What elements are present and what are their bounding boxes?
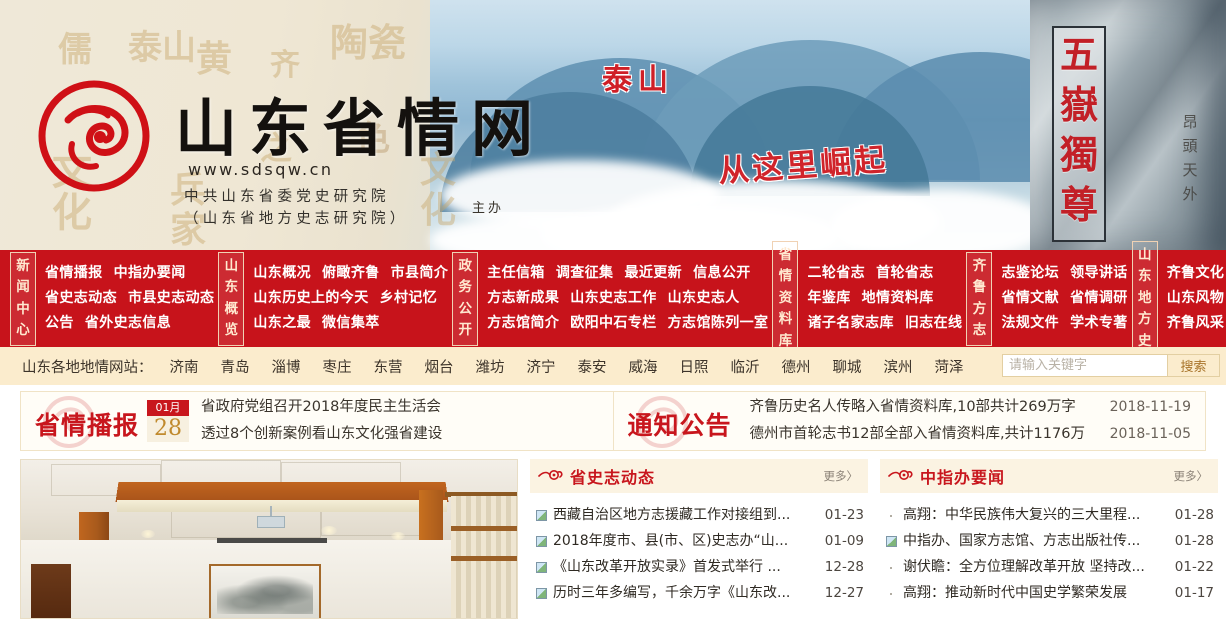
city-link-15[interactable]: 菏泽 xyxy=(935,356,964,377)
nav-category-label[interactable]: 新闻中心 xyxy=(10,252,36,346)
notice-badge: 通知公告 xyxy=(614,392,740,450)
nav-group-2: 政务公开主任信箱调查征集最近更新信息公开方志新成果山东史志工作山东史志人方志馆简… xyxy=(452,252,768,346)
news-column: 中指办要闻更多〉高翔：中华民族伟大复兴的三大里程...01-28中指办、国家方志… xyxy=(880,459,1218,621)
nav-link[interactable]: 地情资料库 xyxy=(862,286,934,311)
news-item-title[interactable]: 高翔：中华民族伟大复兴的三大里程... xyxy=(903,502,1165,528)
ruyi-ornament-icon xyxy=(888,467,914,486)
city-link-8[interactable]: 泰安 xyxy=(578,356,607,377)
ceiling-light xyxy=(141,530,155,538)
sponsor-organization: 中共山东省委党史研究院 （山东省地方史志研究院） xyxy=(184,186,408,230)
headline-text[interactable]: 德州市首轮志书12部全部入省情资料库,共计1176万 xyxy=(750,421,1085,448)
city-link-7[interactable]: 济宁 xyxy=(527,356,556,377)
news-item[interactable]: 西藏自治区地方志援藏工作对接组到...01-23 xyxy=(536,502,864,528)
column-header-left: 省史志动态 xyxy=(538,464,655,488)
news-item-title[interactable]: 谢伏瞻：全方位理解改革开放 坚持改... xyxy=(903,554,1165,580)
watermark-char: 儒 xyxy=(58,22,92,71)
broadcast-date-badge: 01月 28 xyxy=(147,400,189,442)
nav-link[interactable]: 齐鲁文化 xyxy=(1167,261,1225,286)
city-links-bar: 山东各地地情网站： 济南青岛淄博枣庄东营烟台潍坊济宁泰安威海日照临沂德州聊城滨州… xyxy=(0,347,1226,385)
nav-link[interactable]: 齐鲁风采 xyxy=(1167,311,1225,336)
nav-row: 齐鲁风采非物质文化遗产 xyxy=(1167,311,1226,336)
nav-row: 志鉴论坛领导讲话 xyxy=(1001,261,1127,286)
nav-links: 二轮省志首轮省志年鉴库地情资料库诸子名家志库旧志在线 xyxy=(798,241,962,357)
nav-link[interactable]: 二轮省志 xyxy=(807,261,865,286)
nav-row: 省史志动态市县史志动态 xyxy=(45,286,214,311)
city-link-0[interactable]: 济南 xyxy=(170,356,199,377)
nav-link[interactable]: 信息公开 xyxy=(693,261,751,286)
news-item-date: 01-17 xyxy=(1175,580,1214,606)
news-item-title[interactable]: 《山东改革开放实录》首发式举行 ... xyxy=(553,554,815,580)
nav-links: 主任信箱调查征集最近更新信息公开方志新成果山东史志工作山东史志人方志馆简介欧阳中… xyxy=(478,252,768,346)
nav-link[interactable]: 方志馆陈列一室 xyxy=(668,311,769,336)
news-item-date: 01-22 xyxy=(1175,554,1214,580)
column-title: 中指办要闻 xyxy=(920,464,1005,488)
nav-link[interactable]: 法规文件 xyxy=(1001,311,1059,336)
sponsor-line-1: 中共山东省委党史研究院 xyxy=(184,186,408,208)
headline-text[interactable]: 省政府党组召开2018年度民主生活会 xyxy=(201,394,441,421)
watermark-char: 黄 xyxy=(196,30,232,82)
nav-links: 齐鲁文化历史回眸口述历史山东风物专题回眸齐鲁人物齐鲁风采非物质文化遗产 xyxy=(1158,241,1226,357)
search-button[interactable]: 搜索 xyxy=(1168,354,1220,377)
nav-link[interactable]: 学术专著 xyxy=(1070,311,1128,336)
nav-row: 山东风物专题回眸齐鲁人物 xyxy=(1167,286,1226,311)
news-item-date: 12-27 xyxy=(825,580,864,606)
main-navigation: 新闻中心省情播报中指办要闻省史志动态市县史志动态公告省外史志信息山东概览山东概况… xyxy=(0,250,1226,347)
nav-link[interactable]: 年鉴库 xyxy=(807,286,850,311)
site-title: 山东省情网 xyxy=(175,78,545,168)
city-link-12[interactable]: 德州 xyxy=(782,356,811,377)
headline-date: 2018-11-05 xyxy=(1110,421,1191,448)
column-title: 省史志动态 xyxy=(570,464,655,488)
projector-mount xyxy=(270,506,272,516)
room-photo-illustration xyxy=(21,460,517,618)
stele-side-text: 昂頭天外 xyxy=(1178,110,1202,206)
nav-link[interactable]: 山东之最 xyxy=(253,311,311,336)
headline-text[interactable]: 齐鲁历史名人传略入省情资料库,10部共计269万字 xyxy=(750,394,1076,421)
site-url: www.sdsqw.cn xyxy=(188,160,334,179)
nav-link[interactable]: 微信集萃 xyxy=(322,311,380,336)
nav-link[interactable]: 欧阳中石专栏 xyxy=(570,311,656,336)
column-header: 中指办要闻更多〉 xyxy=(880,459,1218,493)
nav-link[interactable]: 市县史志动态 xyxy=(128,286,214,311)
page-root: 儒 文化 泰山 黄 陶瓷 齐 文化 兵家 色 之 五嶽獨尊 昂頭天外 泰山 从这… xyxy=(0,0,1226,621)
sponsor-line-2: （山东省地方史志研究院） xyxy=(184,208,408,230)
nav-group-0: 新闻中心省情播报中指办要闻省史志动态市县史志动态公告省外史志信息 xyxy=(10,252,214,346)
nav-row: 法规文件学术专著 xyxy=(1001,311,1127,336)
city-link-9[interactable]: 威海 xyxy=(629,356,658,377)
city-link-6[interactable]: 潍坊 xyxy=(476,356,505,377)
headline-text[interactable]: 透过8个创新案例看山东文化强省建设 xyxy=(201,421,442,448)
nav-link[interactable]: 中指办要闻 xyxy=(114,261,186,286)
bullet-dot-icon xyxy=(886,562,897,573)
headline-row[interactable]: 德州市首轮志书12部全部入省情资料库,共计1176万2018-11-05 xyxy=(750,421,1192,448)
ceiling-light xyxy=(321,526,337,535)
nav-link[interactable]: 俯瞰齐鲁 xyxy=(322,261,380,286)
nav-row: 山东历史上的今天乡村记忆 xyxy=(253,286,448,311)
city-link-4[interactable]: 东营 xyxy=(374,356,403,377)
city-link-5[interactable]: 烟台 xyxy=(425,356,454,377)
nav-row: 省情播报中指办要闻 xyxy=(45,261,214,286)
broadcast-date-month: 01月 xyxy=(147,400,189,416)
city-link-10[interactable]: 日照 xyxy=(680,356,709,377)
nav-link[interactable]: 山东史志工作 xyxy=(570,286,656,311)
notice-section: 通知公告 齐鲁历史名人传略入省情资料库,10部共计269万字2018-11-19… xyxy=(613,392,1206,450)
stele-inscription-text: 五嶽獨尊 xyxy=(1056,30,1102,230)
nav-link[interactable]: 公告 xyxy=(45,311,74,336)
ceiling-tile xyxy=(171,510,321,538)
headline-date: 2018-11-19 xyxy=(1110,394,1191,421)
nav-group-1: 山东概览山东概况俯瞰齐鲁市县简介山东历史上的今天乡村记忆山东之最微信集萃 xyxy=(218,252,448,346)
wood-beam xyxy=(116,482,449,502)
news-item[interactable]: 高翔：中华民族伟大复兴的三大里程...01-28 xyxy=(886,502,1214,528)
nav-row: 公告省外史志信息 xyxy=(45,311,214,336)
thumbnail-icon xyxy=(536,588,547,599)
nav-link[interactable]: 旧志在线 xyxy=(905,311,963,336)
content-area: 省史志动态更多〉西藏自治区地方志援藏工作对接组到...01-232018年度市、… xyxy=(20,459,1206,621)
curtain-band xyxy=(451,556,518,561)
news-item[interactable]: 高翔：推动新时代中国史学繁荣发展01-17 xyxy=(886,580,1214,606)
nav-category-label[interactable]: 山东地方史 xyxy=(1132,241,1158,357)
door xyxy=(31,564,71,619)
city-link-11[interactable]: 临沂 xyxy=(731,356,760,377)
nav-row: 年鉴库地情资料库 xyxy=(807,286,962,311)
ceiling-light xyxy=(391,532,405,540)
beam-light-strip xyxy=(117,500,447,512)
nav-row: 山东之最微信集萃 xyxy=(253,311,448,336)
nav-link[interactable]: 山东风物 xyxy=(1167,286,1225,311)
search-input[interactable] xyxy=(1002,354,1168,377)
site-logo-seal-icon[interactable] xyxy=(38,80,150,192)
news-item-title[interactable]: 西藏自治区地方志援藏工作对接组到... xyxy=(553,502,815,528)
nav-link[interactable]: 最近更新 xyxy=(624,261,682,286)
nav-links: 山东概况俯瞰齐鲁市县简介山东历史上的今天乡村记忆山东之最微信集萃 xyxy=(244,252,448,346)
landscape-painting xyxy=(209,564,321,619)
nav-link[interactable]: 省史志动态 xyxy=(45,286,117,311)
watermark-char: 陶瓷 xyxy=(330,12,406,67)
nav-row: 方志馆简介欧阳中石专栏方志馆陈列一室 xyxy=(487,311,768,336)
thumbnail-icon xyxy=(886,536,897,547)
nav-link[interactable]: 方志新成果 xyxy=(487,286,559,311)
broadcast-date-day: 28 xyxy=(147,416,189,442)
air-vent xyxy=(217,538,327,543)
nav-link[interactable]: 市县简介 xyxy=(391,261,449,286)
news-item-title[interactable]: 2018年度市、县(市、区)史志办“山... xyxy=(553,528,815,554)
thumbnail-icon xyxy=(536,510,547,521)
news-item[interactable]: 《山东改革开放实录》首发式举行 ...12-28 xyxy=(536,554,864,580)
nav-links: 志鉴论坛领导讲话省情文献省情调研法规文件学术专著 xyxy=(992,252,1127,346)
nav-link[interactable]: 调查征集 xyxy=(556,261,614,286)
nav-row: 二轮省志首轮省志 xyxy=(807,261,962,286)
ruyi-ornament-icon xyxy=(538,467,564,486)
projector-icon xyxy=(257,516,285,528)
news-item-date: 01-28 xyxy=(1175,502,1214,528)
nav-row: 齐鲁文化历史回眸口述历史 xyxy=(1167,261,1226,286)
nav-link[interactable]: 山东概况 xyxy=(253,261,311,286)
broadcast-strip: 省情播报 01月 28 省政府党组召开2018年度民主生活会透过8个创新案例看山… xyxy=(20,391,1206,451)
search-box: 搜索 xyxy=(1002,354,1220,377)
news-item-date: 12-28 xyxy=(825,554,864,580)
news-list: 高翔：中华民族伟大复兴的三大里程...01-28中指办、国家方志馆、方志出版社传… xyxy=(880,493,1218,606)
nav-link[interactable]: 省情播报 xyxy=(45,261,103,286)
broadcast-headline-list: 省政府党组召开2018年度民主生活会透过8个创新案例看山东文化强省建设 xyxy=(201,394,613,448)
news-item-title[interactable]: 高翔：推动新时代中国史学繁荣发展 xyxy=(903,580,1165,606)
nav-group-3: 省情资料库二轮省志首轮省志年鉴库地情资料库诸子名家志库旧志在线 xyxy=(772,241,962,357)
nav-link[interactable]: 方志馆简介 xyxy=(487,311,559,336)
notice-title: 通知公告 xyxy=(628,406,732,442)
nav-link[interactable]: 诸子名家志库 xyxy=(807,311,893,336)
nav-row: 省情文献省情调研 xyxy=(1001,286,1127,311)
curtain-band xyxy=(451,526,518,531)
featured-photo[interactable] xyxy=(20,459,518,619)
news-item-date: 01-23 xyxy=(825,502,864,528)
thumbnail-icon xyxy=(536,562,547,573)
headline-row[interactable]: 省政府党组召开2018年度民主生活会 xyxy=(201,394,599,421)
column-header: 省史志动态更多〉 xyxy=(530,459,868,493)
nav-link[interactable]: 志鉴论坛 xyxy=(1001,261,1059,286)
news-item[interactable]: 历时三年多编写，千余万字《山东改...12-27 xyxy=(536,580,864,606)
more-link[interactable]: 更多〉 xyxy=(1174,468,1209,484)
news-item-date: 01-09 xyxy=(825,528,864,554)
nav-category-label[interactable]: 齐鲁方志 xyxy=(966,252,992,346)
headline-row[interactable]: 齐鲁历史名人传略入省情资料库,10部共计269万字2018-11-19 xyxy=(750,394,1192,421)
site-banner: 儒 文化 泰山 黄 陶瓷 齐 文化 兵家 色 之 五嶽獨尊 昂頭天外 泰山 从这… xyxy=(0,0,1226,250)
more-link[interactable]: 更多〉 xyxy=(824,468,859,484)
city-link-1[interactable]: 青岛 xyxy=(221,356,250,377)
nav-link[interactable]: 首轮省志 xyxy=(876,261,934,286)
city-links-label: 山东各地地情网站： xyxy=(22,356,153,377)
news-item[interactable]: 谢伏瞻：全方位理解改革开放 坚持改...01-22 xyxy=(886,554,1214,580)
nav-link[interactable]: 山东历史上的今天 xyxy=(253,286,368,311)
nav-links: 省情播报中指办要闻省史志动态市县史志动态公告省外史志信息 xyxy=(36,252,214,346)
news-column: 省史志动态更多〉西藏自治区地方志援藏工作对接组到...01-232018年度市、… xyxy=(530,459,868,621)
taishan-label: 泰山 xyxy=(602,55,674,99)
column-header-left: 中指办要闻 xyxy=(888,464,1005,488)
nav-group-5: 山东地方史齐鲁文化历史回眸口述历史山东风物专题回眸齐鲁人物齐鲁风采非物质文化遗产 xyxy=(1132,241,1226,357)
news-item-title[interactable]: 历时三年多编写，千余万字《山东改... xyxy=(553,580,815,606)
news-list: 西藏自治区地方志援藏工作对接组到...01-232018年度市、县(市、区)史志… xyxy=(530,493,868,606)
nav-row: 方志新成果山东史志工作山东史志人 xyxy=(487,286,768,311)
sponsor-suffix: 主办 xyxy=(472,197,504,216)
nav-row: 山东概况俯瞰齐鲁市县简介 xyxy=(253,261,448,286)
nav-category-label[interactable]: 省情资料库 xyxy=(772,241,798,357)
city-link-3[interactable]: 枣庄 xyxy=(323,356,352,377)
news-item[interactable]: 中指办、国家方志馆、方志出版社传...01-28 xyxy=(886,528,1214,554)
nav-link[interactable]: 山东史志人 xyxy=(668,286,740,311)
nav-link[interactable]: 乡村记忆 xyxy=(380,286,438,311)
headline-row[interactable]: 透过8个创新案例看山东文化强省建设 xyxy=(201,421,599,448)
broadcast-section: 省情播报 01月 28 省政府党组召开2018年度民主生活会透过8个创新案例看山… xyxy=(21,392,613,450)
watermark-char: 泰山 xyxy=(128,20,196,69)
news-item[interactable]: 2018年度市、县(市、区)史志办“山...01-09 xyxy=(536,528,864,554)
city-links-container: 济南青岛淄博枣庄东营烟台潍坊济宁泰安威海日照临沂德州聊城滨州菏泽 xyxy=(159,356,975,377)
bullet-dot-icon xyxy=(886,588,897,599)
nav-group-4: 齐鲁方志志鉴论坛领导讲话省情文献省情调研法规文件学术专著 xyxy=(966,252,1127,346)
broadcast-badge: 省情播报 xyxy=(21,392,147,450)
nav-category-label[interactable]: 山东概览 xyxy=(218,252,244,346)
city-link-13[interactable]: 聊城 xyxy=(833,356,862,377)
news-item-date: 01-28 xyxy=(1175,528,1214,554)
nav-link[interactable]: 省情文献 xyxy=(1001,286,1059,311)
nav-row: 主任信箱调查征集最近更新信息公开 xyxy=(487,261,768,286)
nav-link[interactable]: 领导讲话 xyxy=(1070,261,1128,286)
nav-category-label[interactable]: 政务公开 xyxy=(452,252,478,346)
thumbnail-icon xyxy=(536,536,547,547)
city-link-14[interactable]: 滨州 xyxy=(884,356,913,377)
news-item-title[interactable]: 中指办、国家方志馆、方志出版社传... xyxy=(903,528,1165,554)
notice-headline-list: 齐鲁历史名人传略入省情资料库,10部共计269万字2018-11-19德州市首轮… xyxy=(740,394,1206,448)
broadcast-title: 省情播报 xyxy=(35,406,139,442)
nav-link[interactable]: 省外史志信息 xyxy=(85,311,171,336)
bullet-dot-icon xyxy=(886,510,897,521)
nav-row: 诸子名家志库旧志在线 xyxy=(807,311,962,336)
nav-link[interactable]: 省情调研 xyxy=(1070,286,1128,311)
nav-link[interactable]: 主任信箱 xyxy=(487,261,545,286)
city-link-2[interactable]: 淄博 xyxy=(272,356,301,377)
